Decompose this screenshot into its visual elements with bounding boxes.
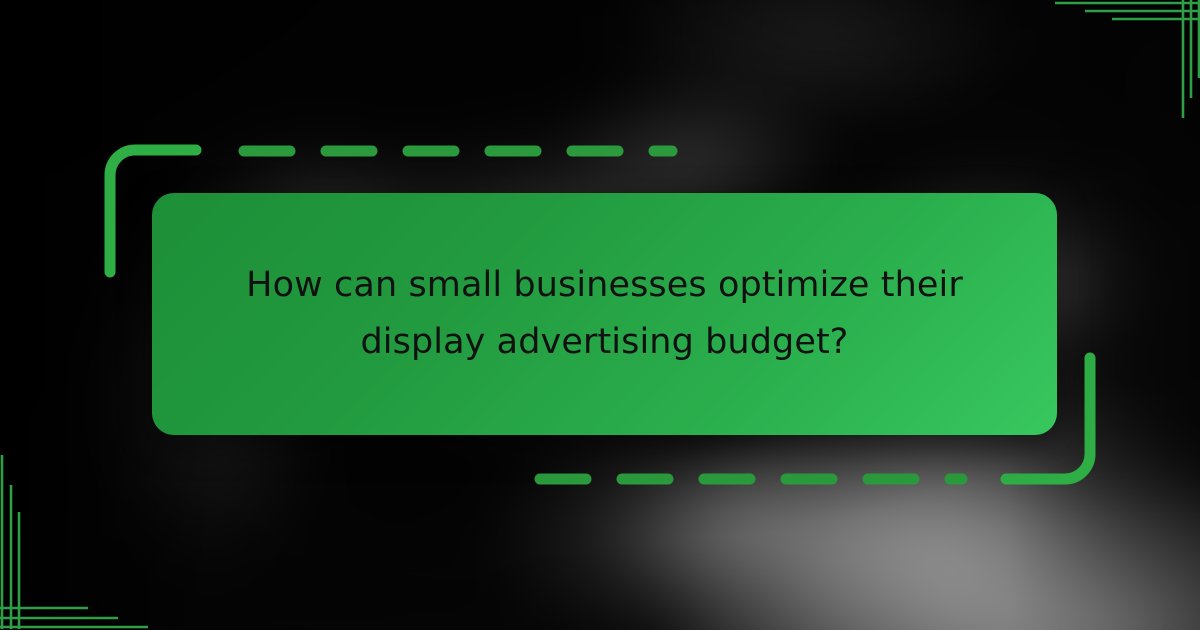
share-card-canvas: How can small businesses optimize their … bbox=[0, 0, 1200, 630]
quote-headline: How can small businesses optimize their … bbox=[225, 257, 985, 370]
ornament-bottom-left-icon bbox=[0, 455, 148, 629]
quote-card[interactable]: How can small businesses optimize their … bbox=[152, 193, 1057, 435]
ornament-top-right-icon bbox=[1055, 0, 1199, 118]
